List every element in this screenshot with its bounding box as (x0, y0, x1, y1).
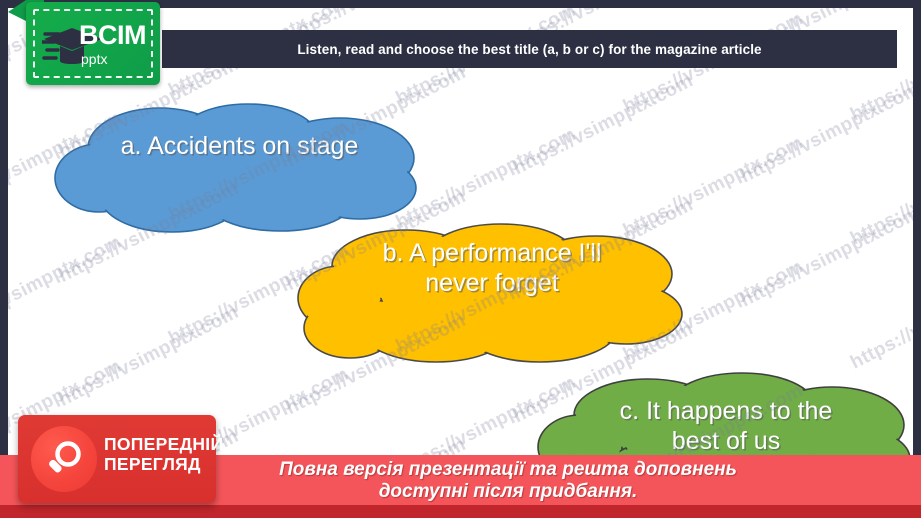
promo-text: Повна версія презентації та решта доповн… (279, 459, 737, 503)
magnifier-icon (42, 437, 86, 481)
preview-badge-line-1: ПОПЕРЕДНІЙ (104, 435, 223, 455)
logo-title: BCIM (79, 22, 146, 49)
cloud-shape-b (296, 222, 688, 364)
logo-subtitle: pptx (81, 52, 146, 66)
preview-badge-line-2: ПЕРЕГЛЯД (104, 455, 223, 475)
option-cloud-a[interactable]: a. Accidents on stage (52, 100, 427, 235)
preview-badge[interactable]: ПОПЕРЕДНІЙ ПЕРЕГЛЯД (18, 415, 216, 503)
logo-text-block: BCIM pptx (79, 22, 146, 66)
bcim-logo[interactable]: BCIM pptx (26, 2, 160, 85)
promo-bottom-strip (0, 505, 921, 518)
promo-line-1: Повна версія презентації та решта доповн… (279, 459, 737, 480)
option-cloud-b[interactable]: b. A performance I'll never forget (296, 222, 688, 364)
cloud-shape-a (52, 100, 427, 235)
slide-frame: a. Accidents on stage (0, 0, 921, 518)
instruction-text: Listen, read and choose the best title (… (297, 42, 761, 57)
preview-badge-text: ПОПЕРЕДНІЙ ПЕРЕГЛЯД (104, 435, 223, 474)
promo-line-2: доступні після придбання. (379, 481, 638, 502)
instruction-header-bar: Listen, read and choose the best title (… (162, 30, 897, 68)
magnifier-badge-circle (31, 426, 97, 492)
